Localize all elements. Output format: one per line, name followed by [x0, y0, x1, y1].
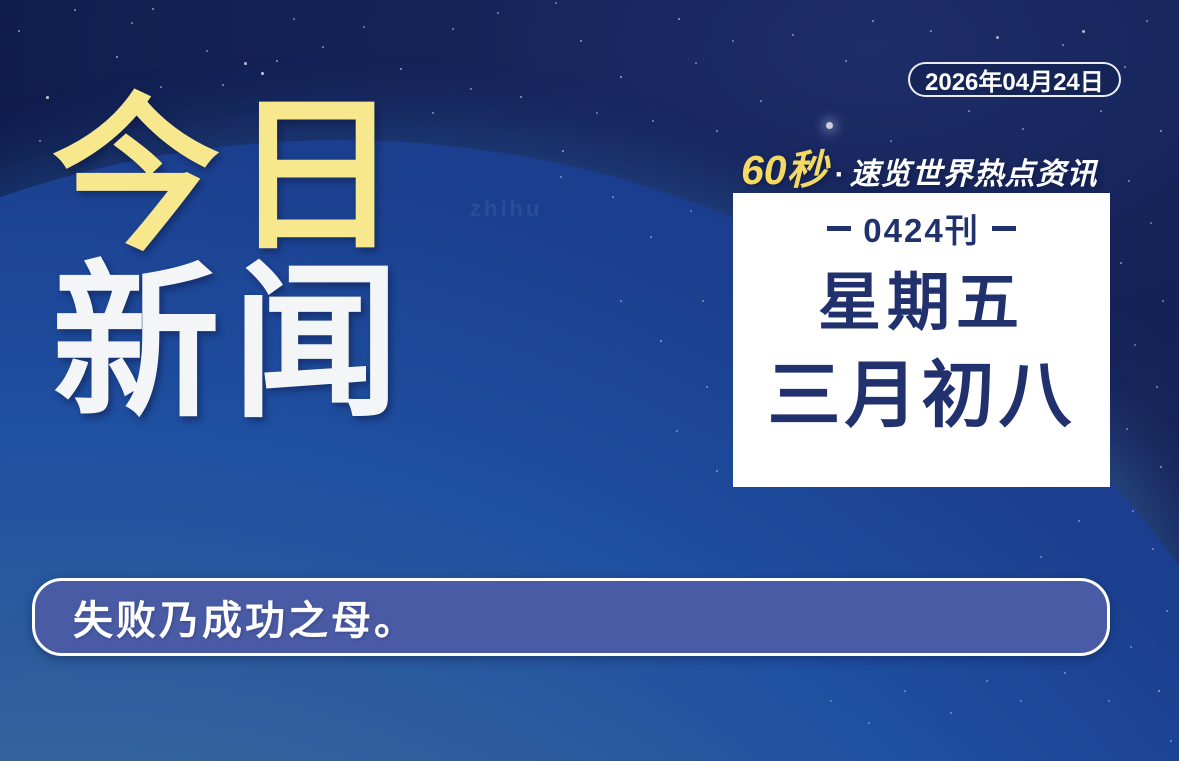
quote-text: 失败乃成功之母。 [73, 588, 417, 646]
tagline-seconds: 60秒 [741, 136, 828, 196]
background-watermark: zhihu [470, 196, 542, 222]
title-line-news: 新闻 [52, 263, 412, 424]
issue-dash-right-icon [992, 226, 1016, 231]
lunar-date-label: 三月初八 [768, 359, 1076, 432]
news-poster: zhihu 今日 新闻 2026年04月24日 60秒 · 速览世界热点资讯 0… [0, 0, 1179, 761]
issue-line: 0424刊 [827, 204, 1015, 252]
weekday-label: 星期五 [818, 272, 1025, 335]
tagline-text: 速览世界热点资讯 [850, 149, 1098, 193]
issue-dash-left-icon [827, 226, 851, 231]
title-line-today: 今日 [52, 96, 412, 257]
tagline: 60秒 · 速览世界热点资讯 [741, 136, 1098, 196]
issue-number: 0424刊 [863, 204, 979, 252]
quote-bar: 失败乃成功之母。 [32, 578, 1110, 656]
poster-title: 今日 新闻 [52, 96, 412, 425]
date-badge: 2026年04月24日 [908, 62, 1121, 97]
date-card: 0424刊 星期五 三月初八 [733, 193, 1110, 487]
tagline-separator: · [828, 158, 850, 192]
date-badge-label: 2026年04月24日 [925, 62, 1104, 97]
